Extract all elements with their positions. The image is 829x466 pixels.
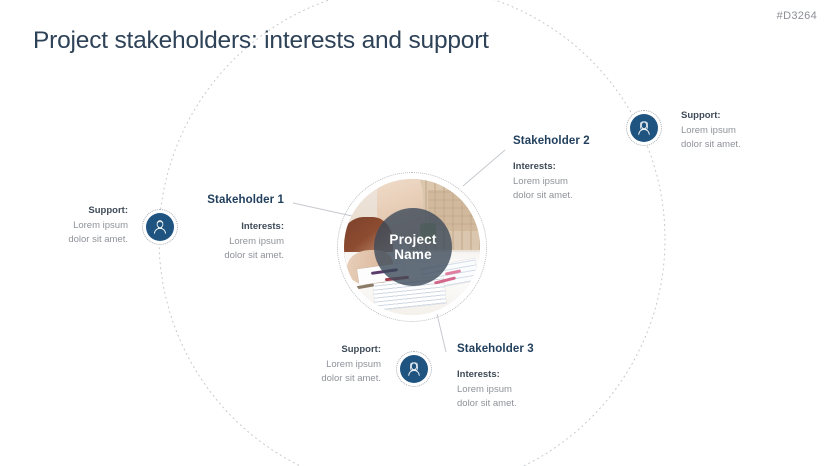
stakeholder-3-interests: Interests: Lorem ipsum dolor sit amet. [457, 368, 577, 410]
icon-disc [630, 114, 658, 142]
support-3-line-1: Lorem ipsum [295, 358, 381, 372]
support-3-text: Support: Lorem ipsum dolor sit amet. [295, 343, 381, 385]
support-2-block[interactable]: Support: Lorem ipsum dolor sit amet. [681, 109, 781, 151]
project-name-line-2: Name [394, 247, 432, 262]
support-3-line-2: dolor sit amet. [295, 372, 381, 386]
stakeholder-2-interests-line-1: Lorem ipsum [513, 175, 633, 189]
stakeholder-1-interests-label: Interests: [180, 220, 284, 234]
support-1-text: Support: Lorem ipsum dolor sit amet. [46, 204, 128, 246]
slide-canvas: Project stakeholders: interests and supp… [0, 0, 829, 466]
stakeholder-1-title: Stakeholder 1 [180, 194, 284, 206]
support-2-line-1: Lorem ipsum [681, 124, 781, 138]
stakeholder-2-title: Stakeholder 2 [513, 135, 633, 147]
icon-disc [400, 355, 428, 383]
project-name-line-1: Project [389, 232, 436, 247]
person-short-hair-icon[interactable] [142, 209, 178, 245]
support-3-label: Support: [295, 343, 381, 357]
support-2-label: Support: [681, 109, 781, 123]
person-long-hair-icon[interactable] [626, 110, 662, 146]
person-long-hair-icon[interactable] [396, 351, 432, 387]
support-1-line-2: dolor sit amet. [46, 233, 128, 247]
stakeholder-2-interests-label: Interests: [513, 160, 633, 174]
stakeholder-3-title: Stakeholder 3 [457, 343, 577, 355]
support-1-line-1: Lorem ipsum [46, 219, 128, 233]
support-1-block[interactable]: Support: Lorem ipsum dolor sit amet. [46, 204, 128, 246]
person-glyph [635, 119, 653, 137]
page-title: Project stakeholders: interests and supp… [33, 27, 489, 55]
document-code-label: #D3264 [777, 10, 817, 22]
stakeholder-1-block[interactable]: Stakeholder 1 Interests: Lorem ipsum dol… [180, 194, 284, 262]
person-glyph [151, 218, 169, 236]
support-2-text: Support: Lorem ipsum dolor sit amet. [681, 109, 781, 151]
icon-disc [146, 213, 174, 241]
support-3-block[interactable]: Support: Lorem ipsum dolor sit amet. [295, 343, 381, 385]
stakeholder-3-interests-line-2: dolor sit amet. [457, 397, 577, 411]
stakeholder-2-block[interactable]: Stakeholder 2 Interests: Lorem ipsum dol… [513, 135, 633, 202]
stakeholder-2-interests-line-2: dolor sit amet. [513, 189, 633, 203]
stakeholder-2-interests: Interests: Lorem ipsum dolor sit amet. [513, 160, 633, 202]
stakeholder-3-block[interactable]: Stakeholder 3 Interests: Lorem ipsum dol… [457, 343, 577, 410]
stakeholder-1-interests: Interests: Lorem ipsum dolor sit amet. [180, 220, 284, 262]
stakeholder-3-interests-line-1: Lorem ipsum [457, 383, 577, 397]
project-hub: Project Name [337, 172, 487, 322]
person-glyph [405, 360, 423, 378]
stakeholder-3-interests-label: Interests: [457, 368, 577, 382]
support-1-label: Support: [46, 204, 128, 218]
support-2-line-2: dolor sit amet. [681, 138, 781, 152]
stakeholder-1-interests-line-2: dolor sit amet. [180, 249, 284, 263]
project-name-overlay: Project Name [374, 208, 452, 286]
stakeholder-1-interests-line-1: Lorem ipsum [180, 235, 284, 249]
